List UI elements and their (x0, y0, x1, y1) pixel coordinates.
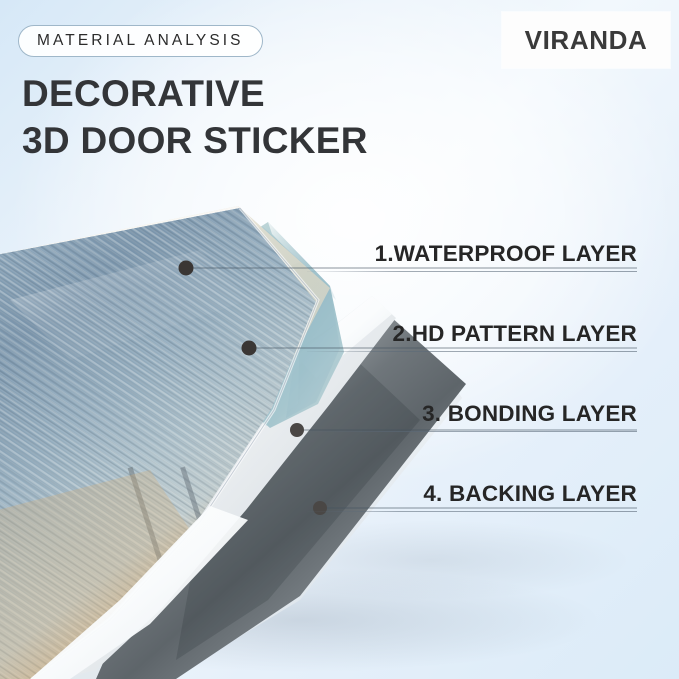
callout-waterproof-layer: 1.WATERPROOF LAYER (307, 241, 637, 272)
page-title-line-2: 3D DOOR STICKER (22, 117, 368, 164)
callout-label-2: 2.HD PATTERN LAYER (393, 321, 637, 351)
infographic-canvas: 1.WATERPROOF LAYER 2.HD PATTERN LAYER 3.… (0, 0, 679, 679)
page-title-line-1: DECORATIVE (22, 70, 368, 117)
callout-rule-3 (307, 431, 637, 432)
brand-badge: VIRANDA (502, 12, 670, 68)
eyebrow-text: MATERIAL ANALYSIS (37, 32, 244, 50)
page-title: DECORATIVE 3D DOOR STICKER (22, 70, 368, 164)
callout-rule-2 (307, 351, 637, 352)
brand-name: VIRANDA (525, 25, 648, 56)
callout-label-3: 3. BONDING LAYER (422, 401, 637, 431)
eyebrow-pill: MATERIAL ANALYSIS (18, 25, 263, 57)
callout-label-1: 1.WATERPROOF LAYER (375, 241, 637, 271)
callout-rule-4 (307, 511, 637, 512)
callout-label-4: 4. BACKING LAYER (423, 481, 637, 511)
callout-hd-pattern-layer: 2.HD PATTERN LAYER (307, 321, 637, 352)
callout-bonding-layer: 3. BONDING LAYER (307, 401, 637, 432)
callout-backing-layer: 4. BACKING LAYER (307, 481, 637, 512)
callout-rule-1 (307, 271, 637, 272)
